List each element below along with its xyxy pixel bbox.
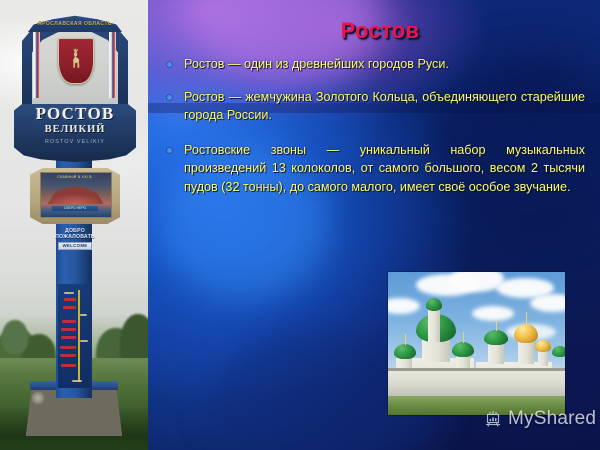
- cloud: [530, 294, 565, 312]
- route-line: [78, 290, 80, 382]
- list-item: Ростов — жемчужина Золотого Кольца, объе…: [160, 88, 585, 125]
- cloud: [388, 298, 420, 314]
- list-item-text: Ростов — жемчужина Золотого Кольца, объе…: [184, 90, 585, 123]
- plaque-top-text: СЛАВНЫЙ В XXI В.: [44, 175, 106, 179]
- stele-city-name-latin: ROSTOV VELIKIY: [14, 139, 136, 145]
- route-label: [80, 340, 88, 342]
- list-item-text: Ростов — один из древнейших городов Руси…: [184, 57, 449, 71]
- cross-icon: [405, 334, 406, 345]
- tree: [2, 320, 28, 354]
- bullet-dot-icon: [167, 148, 172, 153]
- gold-church-dome: [514, 324, 538, 343]
- route-tick: [61, 364, 76, 367]
- cathedral-side-dome-right: [452, 342, 474, 357]
- watermark: MyShared: [484, 408, 596, 430]
- route-tick: [60, 354, 76, 357]
- cross-icon: [496, 320, 497, 331]
- route-tick: [64, 298, 76, 301]
- cloud: [472, 306, 514, 321]
- gold-church-small-dome: [535, 340, 551, 352]
- bell-tower-shaft: [428, 308, 440, 342]
- welcome-text-en: WELCOME: [58, 242, 92, 250]
- route-tick: [61, 336, 76, 339]
- stele-pillar-left: [33, 32, 40, 98]
- gold-church-drum: [518, 340, 534, 364]
- bullet-dot-icon: [167, 62, 172, 67]
- monastery-photo: [388, 272, 565, 415]
- stele-city-epithet: ВЕЛИКИЙ: [14, 124, 136, 135]
- myshared-logo-icon: [484, 409, 504, 429]
- route-tick: [61, 328, 76, 331]
- route-tick: [62, 320, 76, 323]
- stele-region-name: ЯРОСЛАВСКАЯ ОБЛАСТЬ: [28, 21, 122, 27]
- route-tick: [60, 346, 76, 349]
- list-item: Ростовские звоны — уникальный набор музы…: [160, 141, 585, 197]
- presentation-slide: ДОБРО ПОЖАЛОВАТЬ WELCOME СЛАВНЫЙ В XXI В…: [0, 0, 600, 450]
- stele-city-name: РОСТОВ: [14, 104, 136, 124]
- stele-photo: ДОБРО ПОЖАЛОВАТЬ WELCOME СЛАВНЫЙ В XXI В…: [0, 0, 148, 450]
- welcome-block: ДОБРО ПОЖАЛОВАТЬ WELCOME: [52, 228, 98, 262]
- second-church-drum: [488, 342, 504, 364]
- bell-tower-cupola: [426, 298, 442, 311]
- bullet-dot-icon: [167, 95, 172, 100]
- welcome-text-ru: ДОБРО ПОЖАЛОВАТЬ: [52, 228, 98, 241]
- list-item-text: Ростовские звоны — уникальный набор музы…: [184, 143, 585, 194]
- route-label: [80, 314, 87, 316]
- monastery-wall: [388, 371, 565, 397]
- plaque-bottom-text: ОЗЕРО НЕРО: [52, 206, 98, 211]
- route-map-panel: [58, 284, 90, 388]
- route-label: [64, 292, 74, 294]
- second-church-dome: [484, 330, 508, 345]
- watermark-text: MyShared: [508, 408, 596, 430]
- cathedral-side-dome-left: [394, 344, 416, 359]
- deer-emblem-icon: [68, 46, 83, 74]
- cross-icon: [526, 312, 527, 325]
- stele-pillar-right: [109, 32, 116, 98]
- bullet-list: Ростов — один из древнейших городов Руси…: [160, 55, 585, 210]
- gold-church-small-drum: [538, 350, 548, 366]
- list-item: Ростов — один из древнейших городов Руси…: [160, 55, 585, 74]
- far-right-dome: [552, 346, 565, 357]
- cross-icon: [463, 332, 464, 343]
- route-label: [72, 380, 82, 382]
- route-tick: [63, 306, 76, 309]
- page-title: Ростов: [170, 18, 590, 44]
